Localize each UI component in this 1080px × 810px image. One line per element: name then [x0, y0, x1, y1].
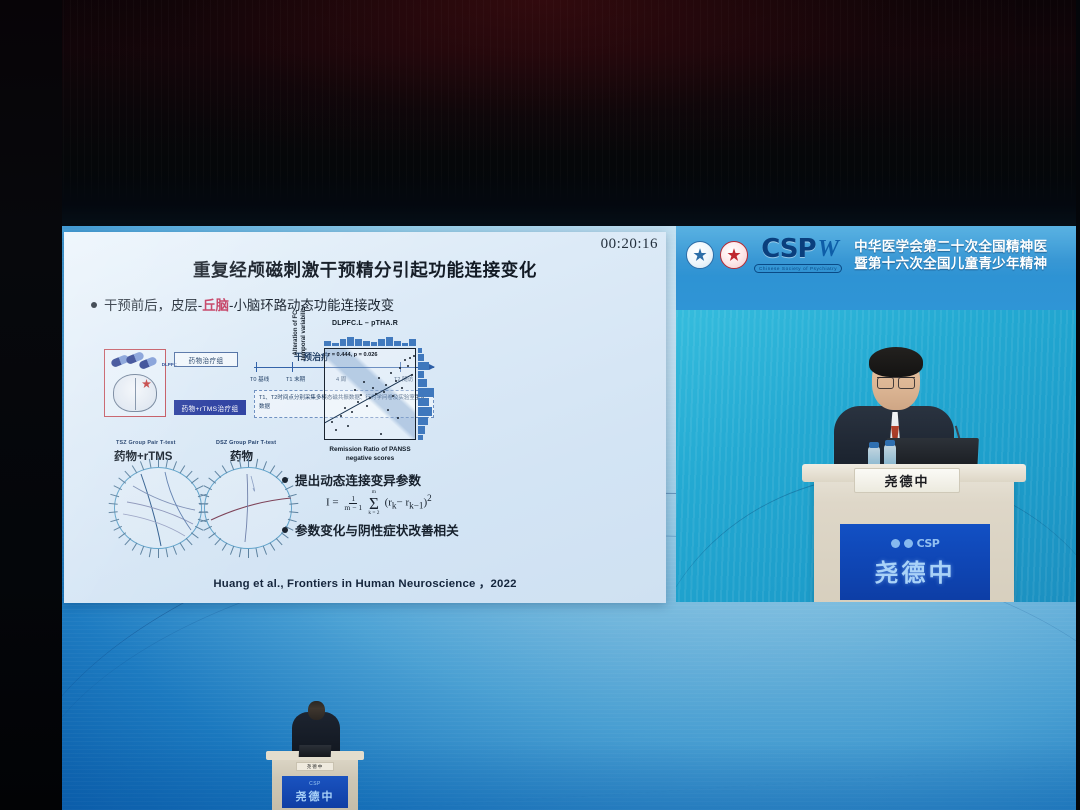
stage-nameplate: 尧德中 — [296, 762, 334, 771]
connectome-arcs-1 — [115, 468, 203, 550]
figure-title: DLPFC.L – pTHA.R — [286, 320, 444, 327]
presentation-timer: 00:20:16 — [601, 236, 658, 253]
csp-logo: CSP W Chinese Society of Psychiatry — [754, 236, 842, 273]
bullet-dot-icon-2 — [282, 477, 288, 483]
timeline-label-0: T0 基线 — [250, 375, 269, 383]
scatter-figure: DLPFC.L – pTHA.R r = 0.444, p = 0.026 — [286, 320, 444, 468]
slide-citation: Huang et al., Frontiers in Human Neurosc… — [64, 575, 666, 591]
presentation-slide: 00:20:16 重复经颅磁刺激干预精分引起功能连接变化 干预前后，皮层-丘脑-… — [64, 232, 666, 603]
brain-icon — [113, 374, 157, 412]
society-emblem-icon — [720, 241, 748, 269]
podium-emblem-icon-2 — [904, 539, 913, 548]
formula-fraction: 1 m − 1 — [344, 494, 362, 512]
connectome-spoke — [149, 459, 152, 468]
bullet-dot-icon-3 — [282, 527, 288, 533]
podium-csp-logo: CSP — [917, 537, 940, 550]
connectome-arcs-2 — [205, 468, 293, 550]
screenshot-root: CSP W Chinese Society of Psychiatry 中华医学… — [0, 0, 1080, 810]
right-dark-edge — [1076, 0, 1080, 810]
connectome-circle-2 — [204, 467, 292, 549]
auditorium-ceiling — [0, 0, 1080, 228]
connectome-spoke — [239, 459, 242, 468]
bullet-text-highlight: 丘脑 — [202, 298, 229, 313]
slide-bullet-correlation-text: 参数变化与阴性症状改善相关 — [295, 524, 459, 538]
cma-emblem-icon — [686, 241, 714, 269]
ceiling-lip — [0, 176, 1080, 228]
conference-title-block: 中华医学会第二十次全国精神医 暨第十六次全国儿童青少年精神 — [854, 238, 1047, 272]
slide-bullet-param-text: 提出动态连接变异参数 — [295, 474, 421, 488]
conference-header-bar: CSP W Chinese Society of Psychiatry 中华医学… — [676, 226, 1080, 310]
timeline-tick-0 — [256, 362, 257, 372]
slide-title: 重复经颅磁刺激干预精分引起功能连接变化 — [64, 257, 666, 282]
speaker-video-feed: CSP 尧德中 尧德中 — [676, 310, 1080, 602]
csp-wordmark: CSP — [761, 236, 815, 262]
stage-podium-panel: CSP 尧德中 — [282, 776, 348, 808]
bullet-dot-icon — [91, 302, 97, 308]
stage-laptop — [299, 745, 332, 757]
stimulation-spark-icon — [142, 379, 151, 388]
formula-body-open: (r — [385, 497, 392, 509]
speaker-hair — [869, 347, 923, 377]
connectome-caption-1: TSZ Group Pair T-test — [116, 440, 176, 446]
connectome-spoke — [248, 458, 249, 467]
group-tag-drug-rtms: 药物+rTMS治疗组 — [174, 400, 246, 415]
connectome-spoke — [256, 459, 259, 468]
speaker-nameplate: 尧德中 — [854, 468, 960, 493]
connectome-spoke — [248, 549, 249, 558]
formula-lhs: I — [326, 497, 330, 509]
formula-sigma-icon: Σ — [369, 497, 379, 511]
bullet-text-post: -小脑环路动态功能连接改变 — [229, 298, 394, 313]
slide-main-bullet: 干预前后，皮层-丘脑-小脑环路动态功能连接改变 — [91, 294, 394, 314]
connectome-circle-1 — [114, 467, 202, 549]
brain-pill-diagram: DLPFC — [104, 349, 166, 417]
figure-y-axis-label: Alteration of FCtemporal variability — [292, 302, 308, 364]
connectome-caption-2: DSZ Group Pair T-test — [216, 440, 276, 446]
formula-minus: − r — [397, 497, 410, 509]
header-row: CSP W Chinese Society of Psychiatry 中华医学… — [686, 236, 1047, 273]
conference-title-line2: 暨第十六次全国儿童青少年精神 — [854, 255, 1047, 272]
slide-bullet-correlation: 参数变化与阴性症状改善相关 — [282, 520, 459, 539]
speaker-glasses-icon — [877, 377, 915, 387]
video-podium-name: 尧德中 — [875, 553, 956, 588]
speaker-nameplate-text: 尧德中 — [884, 471, 929, 490]
scatter-plot-area: r = 0.444, p = 0.026 — [324, 348, 416, 440]
podium-emblem-icon — [891, 539, 900, 548]
marginal-histogram-right — [418, 348, 434, 440]
formula-sigma-limits: m Σ k = 2 — [368, 489, 380, 517]
stage-podium-logo: CSP — [309, 781, 321, 787]
formula-equals: = — [332, 497, 338, 509]
bullet-text-pre: 干预前后，皮层- — [104, 298, 202, 313]
conference-title-line1: 中华医学会第二十次全国精神医 — [854, 238, 1047, 255]
correlation-annotation: r = 0.444, p = 0.026 — [328, 352, 377, 358]
video-podium: CSP 尧德中 — [814, 474, 1014, 602]
variability-formula: I = 1 m − 1 m Σ k = 2 (rk− rk−1)2 — [326, 489, 432, 517]
connectome-spoke — [158, 458, 159, 467]
formula-denominator: m − 1 — [344, 503, 362, 512]
group-tag-drug: 药物治疗组 — [174, 352, 238, 367]
figure-x-axis-label: Remission Ratio of PANSSnegative scores — [306, 446, 434, 463]
csp-logo-row: CSP W — [761, 236, 839, 262]
video-podium-panel: CSP 尧德中 — [840, 524, 990, 600]
speaker-head — [872, 352, 920, 410]
stage-speaker-head — [308, 701, 325, 720]
formula-sub-k1: k−1 — [409, 501, 423, 511]
left-dark-wall — [0, 0, 62, 810]
csp-w-icon: W — [818, 237, 839, 261]
formula-power: 2 — [427, 493, 432, 503]
confidence-band — [324, 348, 416, 440]
csp-logo-subtitle: Chinese Society of Psychiatry — [754, 264, 842, 273]
stage-podium-name: 尧德中 — [296, 788, 335, 804]
marginal-histogram-top — [324, 334, 416, 346]
video-podium-logo-row: CSP — [891, 537, 940, 550]
connectome-spoke — [158, 549, 159, 558]
connectome-spoke — [166, 459, 169, 468]
slide-bullet-param: 提出动态连接变异参数 — [282, 470, 421, 489]
